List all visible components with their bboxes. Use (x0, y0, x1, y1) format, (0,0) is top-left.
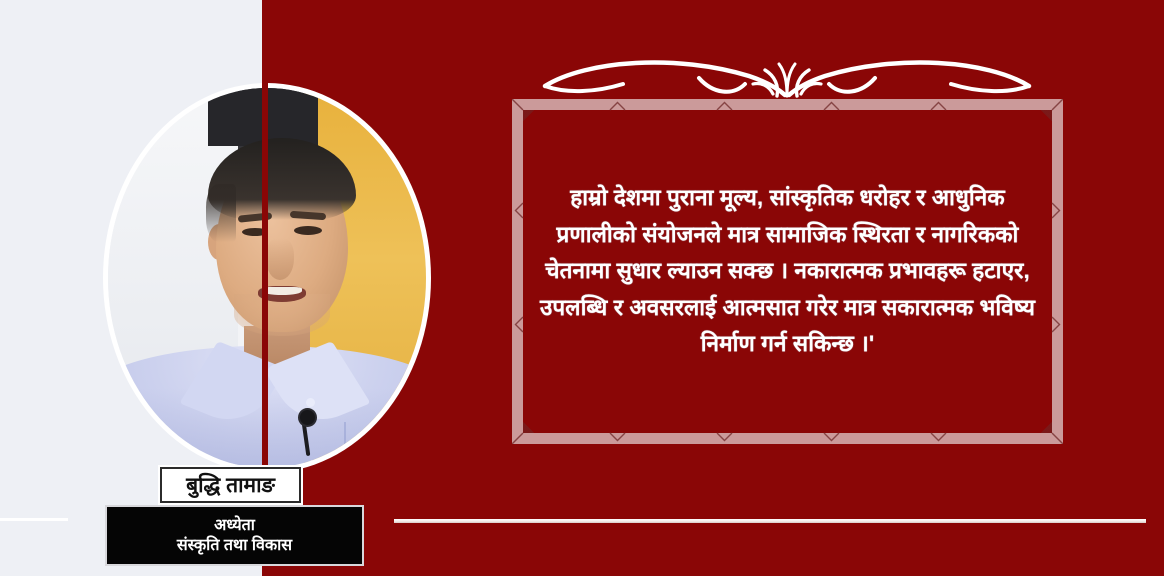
portrait-eye-right (294, 226, 322, 235)
quote-text-block: हाम्रो देशमा पुराना मूल्य, सांस्कृतिक धर… (523, 110, 1052, 433)
speaker-name-box: बुद्धि तामाङ (160, 467, 301, 503)
portrait-shirt-pocket (344, 422, 408, 468)
quote-text: हाम्रो देशमा पुराना मूल्य, सांस्कृतिक धर… (537, 180, 1038, 362)
portrait-shirt-button-top (306, 398, 315, 407)
speaker-title-box: अध्येता संस्कृति तथा विकास (105, 505, 364, 566)
portrait-teeth (262, 287, 302, 295)
portrait-shirt-button-bottom (308, 460, 317, 468)
quote-frame: हाम्रो देशमा पुराना मूल्य, सांस्कृतिक धर… (512, 99, 1063, 444)
speaker-affiliation: संस्कृति तथा विकास (177, 536, 292, 556)
bottom-accent-rule (394, 519, 1146, 523)
decorative-flourish-icon (527, 48, 1047, 100)
portrait-nose (266, 238, 294, 280)
left-accent-rule (0, 518, 68, 521)
portrait-hair-side (206, 184, 236, 242)
speaker-name: बुद्धि तामाङ (186, 475, 275, 496)
quote-card: बुद्धि तामाङ अध्येता संस्कृति तथा विकास (0, 0, 1164, 576)
speaker-role: अध्येता (214, 516, 255, 536)
lapel-microphone-icon (300, 410, 315, 425)
